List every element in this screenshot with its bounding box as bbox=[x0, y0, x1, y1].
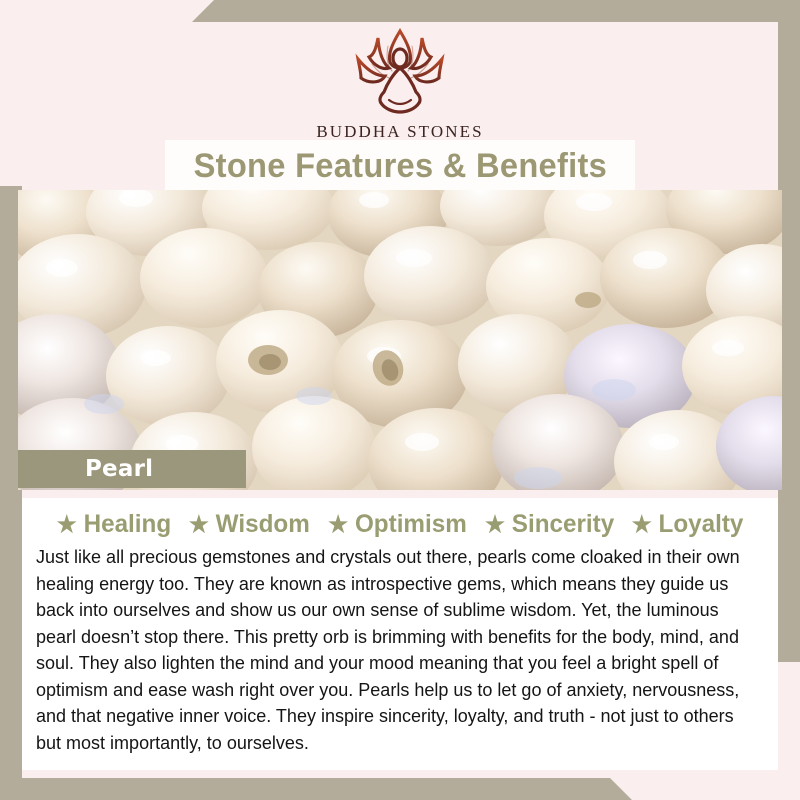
benefit-item-optimism: ★ Optimism bbox=[328, 510, 467, 539]
benefit-label: Healing bbox=[84, 510, 172, 539]
description-text: Just like all precious gemstones and cry… bbox=[36, 544, 753, 756]
benefits-list: ★ Healing ★ Wisdom ★ Optimism ★ Sincerit… bbox=[22, 498, 778, 539]
benefit-label: Wisdom bbox=[216, 510, 310, 539]
benefit-label: Loyalty bbox=[658, 510, 743, 539]
content-card: ★ Healing ★ Wisdom ★ Optimism ★ Sincerit… bbox=[22, 498, 778, 770]
hero-caption-label: Pearl bbox=[85, 456, 153, 482]
poster-root: BUDDHA STONES Stone Features & Benefits bbox=[0, 0, 800, 800]
decorative-band-bottom bbox=[0, 778, 800, 800]
brand-logo: BUDDHA STONES bbox=[0, 24, 800, 142]
benefit-item-sincerity: ★ Sincerity bbox=[485, 510, 614, 539]
star-icon: ★ bbox=[631, 513, 651, 536]
benefit-label: Optimism bbox=[355, 510, 467, 539]
star-icon: ★ bbox=[57, 513, 77, 536]
benefit-item-loyalty: ★ Loyalty bbox=[631, 510, 743, 539]
brand-name: BUDDHA STONES bbox=[316, 122, 483, 142]
page-title: Stone Features & Benefits bbox=[193, 147, 606, 186]
star-icon: ★ bbox=[189, 513, 209, 536]
benefit-item-healing: ★ Healing bbox=[57, 510, 171, 539]
lotus-meditation-icon bbox=[341, 24, 459, 116]
benefit-label: Sincerity bbox=[511, 510, 613, 539]
benefit-item-wisdom: ★ Wisdom bbox=[189, 510, 310, 539]
pearl-photo-illustration bbox=[18, 190, 782, 490]
decorative-band-top bbox=[0, 0, 800, 22]
star-icon: ★ bbox=[328, 513, 348, 536]
hero-image bbox=[18, 190, 782, 490]
hero-caption: Pearl bbox=[18, 450, 246, 488]
star-icon: ★ bbox=[485, 513, 505, 536]
title-banner: Stone Features & Benefits bbox=[165, 140, 635, 193]
